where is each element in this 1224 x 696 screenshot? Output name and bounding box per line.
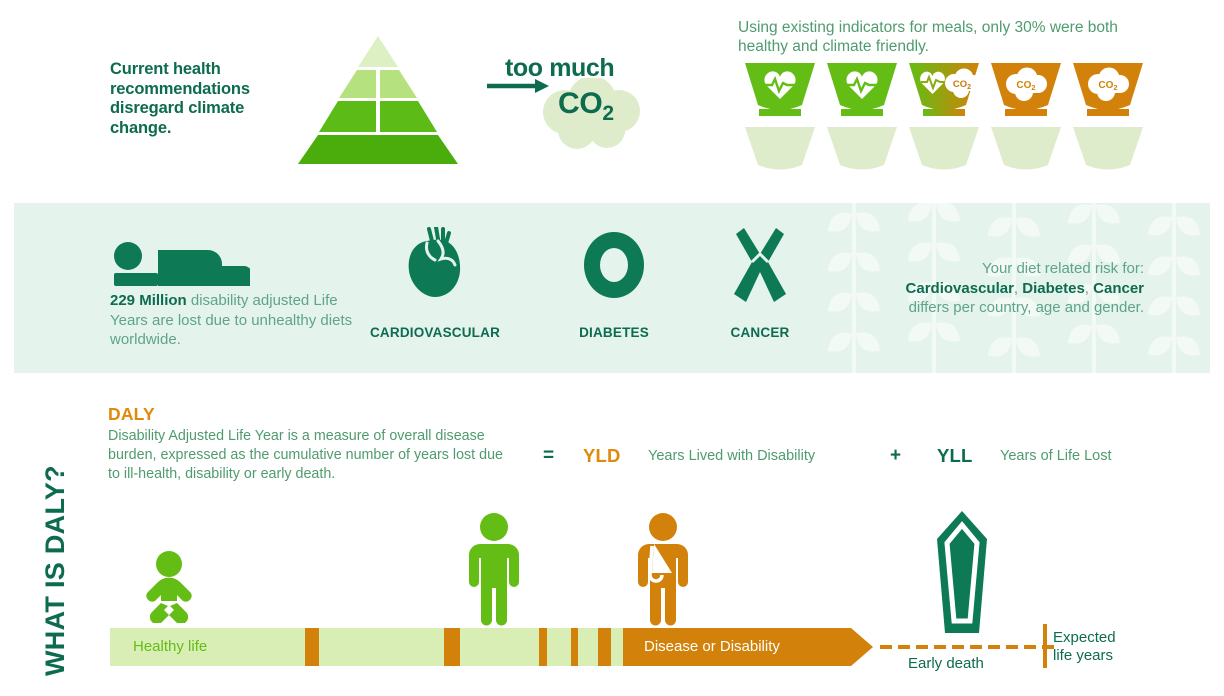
bowl-healthy-2	[827, 63, 897, 116]
heart-organ-icon	[405, 227, 465, 304]
baby-icon	[136, 551, 202, 628]
top-headline: Current health recommendations disregard…	[110, 60, 285, 138]
co2-text: CO	[558, 87, 602, 120]
coffin-icon	[921, 509, 1003, 642]
expected-label-line1: Expected	[1053, 629, 1116, 647]
diet-risk-line1: Your diet related risk for:	[704, 259, 1144, 279]
yll-abbr: YLL	[937, 445, 973, 467]
plus-sign: +	[890, 445, 901, 467]
timeline-tick	[598, 628, 611, 666]
daly-description: Disability Adjusted Life Year is a measu…	[108, 427, 508, 484]
person-in-bed-icon	[110, 242, 250, 293]
risk-sep-2: ,	[1085, 280, 1093, 297]
equals-sign: =	[543, 445, 554, 467]
timeline-healthy-label: Healthy life	[133, 638, 207, 655]
daly-heading: DALY	[108, 404, 155, 425]
risk-diabetes: Diabetes	[1022, 280, 1085, 297]
expected-life-years-marker	[1043, 624, 1047, 668]
diet-risk-line3: differs per country, age and gender.	[704, 298, 1144, 318]
injured-person-with-sling-icon	[637, 513, 689, 633]
timeline-tick	[305, 628, 319, 666]
disease-label-cancer: CANCER	[690, 325, 830, 340]
risk-cardiovascular: Cardiovascular	[906, 280, 1014, 297]
early-death-label: Early death	[908, 655, 984, 673]
food-pyramid-icon	[278, 22, 478, 172]
timeline-tick	[539, 628, 547, 666]
yld-description: Years Lived with Disability	[648, 448, 815, 464]
risk-sep-1: ,	[1014, 280, 1022, 297]
diet-risk-line2: Cardiovascular, Diabetes, Cancer	[704, 279, 1144, 299]
bowl-co2-4: CO2	[991, 63, 1061, 116]
timeline-disease-label: Disease or Disability	[644, 638, 780, 655]
disease-label-diabetes: DIABETES	[532, 325, 696, 340]
risk-cancer: Cancer	[1093, 280, 1144, 297]
adult-person-icon	[468, 513, 520, 633]
yld-abbr: YLD	[583, 445, 621, 467]
bowls-caption: Using existing indicators for meals, onl…	[738, 18, 1138, 56]
bowls-row-empty	[745, 127, 1145, 177]
disease-burden-band: 229 Million disability adjusted Life Yea…	[14, 203, 1210, 373]
bowl-healthy-1	[745, 63, 815, 116]
timeline-tick	[571, 628, 578, 666]
co2-label: CO2	[558, 87, 614, 126]
diet-risk-text: Your diet related risk for: Cardiovascul…	[704, 259, 1144, 318]
bowls-row: CO2 CO2 CO2	[745, 63, 1145, 130]
disease-label-cardiovascular: CARDIOVASCULAR	[340, 325, 530, 340]
what-is-daly-title: WHAT IS DALY?	[40, 465, 71, 676]
yll-description: Years of Life Lost	[1000, 448, 1112, 464]
daly-stat-text: 229 Million disability adjusted Life Yea…	[110, 291, 370, 350]
bowl-co2-5: CO2	[1073, 63, 1143, 116]
co2-subscript: 2	[602, 102, 613, 125]
expected-label-line2: life years	[1053, 647, 1116, 665]
daly-stat-number: 229 Million	[110, 292, 187, 309]
donut-ring-icon	[581, 230, 647, 305]
expected-life-years-label: Expected life years	[1053, 629, 1116, 665]
timeline-tick	[444, 628, 460, 666]
bowl-mixed-3: CO2	[909, 63, 981, 116]
